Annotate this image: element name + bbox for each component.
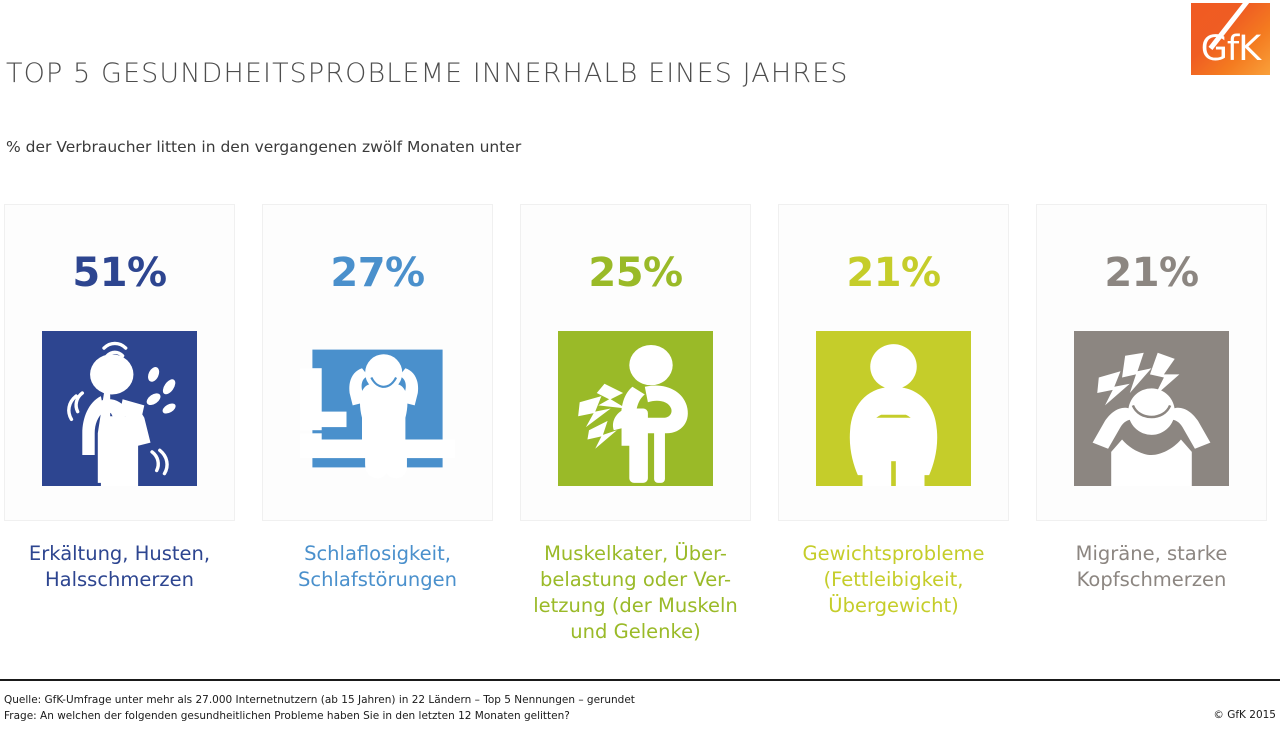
percentage-value: 25% xyxy=(588,253,682,293)
gfk-logo: GfK xyxy=(1191,3,1270,75)
page-title: TOP 5 GESUNDHEITSPROBLEME INNERHALB EINE… xyxy=(6,58,848,89)
page-subtitle: % der Verbraucher litten in den vergange… xyxy=(6,138,521,156)
footer-copyright: © GfK 2015 xyxy=(1213,707,1276,724)
footer-source-block: Quelle: GfK-Umfrage unter mehr als 27.00… xyxy=(4,692,635,725)
card-label: Muskelkater, Über- belastung oder Ver- l… xyxy=(513,541,758,645)
logo-text: GfK xyxy=(1191,32,1270,67)
card-box: 51% xyxy=(4,204,235,521)
card-label-line: Halsschmerzen xyxy=(0,567,242,593)
muscle-pain-person-icon xyxy=(558,331,713,486)
footer-divider xyxy=(0,679,1280,681)
card-erkaeltung: 51% xyxy=(4,204,235,645)
card-label-line: (Fettleibigkeit, xyxy=(771,567,1016,593)
card-label-line: Muskelkater, Über- xyxy=(513,541,758,567)
card-label: Gewichtsprobleme (Fettleibigkeit, Überge… xyxy=(771,541,1016,619)
footer-question-line: Frage: An welchen der folgenden gesundhe… xyxy=(4,708,635,724)
footer-source-line: Quelle: GfK-Umfrage unter mehr als 27.00… xyxy=(4,692,635,708)
card-label-line: Schlaflosigkeit, xyxy=(255,541,500,567)
card-label: Migräne, starke Kopfschmerzen xyxy=(1029,541,1274,593)
infographic-root: GfK TOP 5 GESUNDHEITSPROBLEME INNERHALB … xyxy=(0,0,1280,738)
card-gewichtsprobleme: 21% Gewichtsprobleme xyxy=(778,204,1009,645)
percentage-value: 51% xyxy=(72,253,166,293)
percentage-value: 21% xyxy=(1104,253,1198,293)
card-label: Erkältung, Husten, Halsschmerzen xyxy=(0,541,242,593)
card-box: 21% xyxy=(778,204,1009,521)
insomnia-person-on-bed-icon xyxy=(300,331,455,486)
card-label-line: Gewichtsprobleme xyxy=(771,541,1016,567)
card-muskelkater: 25% xyxy=(520,204,751,645)
card-label-line: Migräne, starke xyxy=(1029,541,1274,567)
card-label-line: Schlafstörungen xyxy=(255,567,500,593)
card-label-line: und Gelenke) xyxy=(513,619,758,645)
percentage-value: 27% xyxy=(330,253,424,293)
card-box: 21% xyxy=(1036,204,1267,521)
card-label-line: Kopfschmerzen xyxy=(1029,567,1274,593)
card-label-line: letzung (der Muskeln xyxy=(513,593,758,619)
card-label-line: Erkältung, Husten, xyxy=(0,541,242,567)
card-schlaflosigkeit: 27% xyxy=(262,204,493,645)
percentage-value: 21% xyxy=(846,253,940,293)
card-box: 27% xyxy=(262,204,493,521)
card-box: 25% xyxy=(520,204,751,521)
footer: Quelle: GfK-Umfrage unter mehr als 27.00… xyxy=(4,692,1276,725)
card-label: Schlaflosigkeit, Schlafstörungen xyxy=(255,541,500,593)
card-label-line: Übergewicht) xyxy=(771,593,1016,619)
coughing-person-icon xyxy=(42,331,197,486)
headache-person-icon xyxy=(1074,331,1229,486)
overweight-person-icon xyxy=(816,331,971,486)
card-label-line: belastung oder Ver- xyxy=(513,567,758,593)
cards-row: 51% xyxy=(0,204,1280,645)
card-migraene: 21% xyxy=(1036,204,1267,645)
